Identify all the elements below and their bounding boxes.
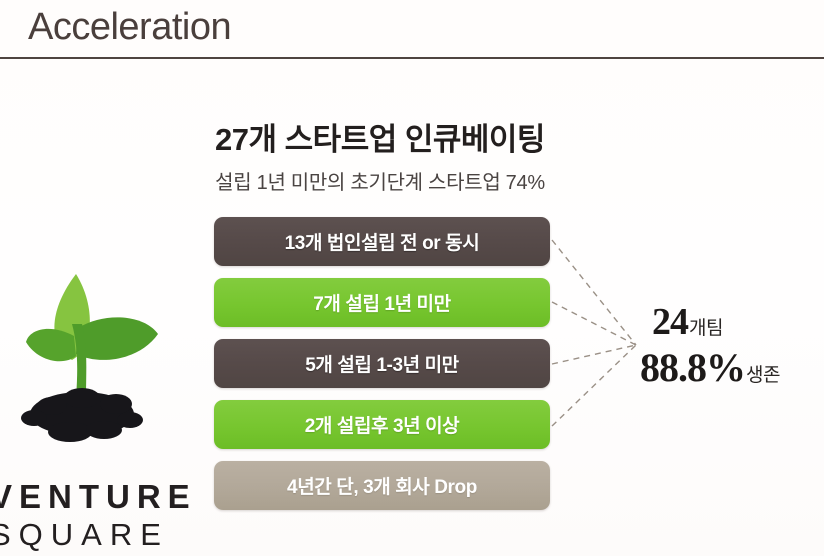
bar-item-4[interactable]: 2개 설립후 3년 이상 [214,400,550,449]
bar-item-2[interactable]: 7개 설립 1년 미만 [214,278,550,327]
callout-rate-line: 88.8% 생존 [640,344,815,391]
bar-item-3[interactable]: 5개 설립 1-3년 미만 [214,339,550,388]
sprout-logo-icon [12,262,182,462]
sub-heading: 설립 1년 미만의 초기단계 스타트업 74% [0,166,760,195]
callout-rate-number: 88.8% [640,344,745,391]
callout-teams-number: 24 [652,300,688,344]
callout-teams-suffix: 개팀 [689,313,723,340]
connector-line-4 [552,345,636,426]
bar-item-1[interactable]: 13개 법인설립 전 or 동시 [214,217,550,266]
venture-square-wordmark: VENTURE SQUARE [0,478,200,554]
slide-header: Acceleration [0,0,824,58]
connector-line-3 [552,345,636,364]
leaf-left-icon [26,329,76,361]
wordmark-line-square: SQUARE [0,516,200,554]
leaf-right-icon [76,317,158,360]
header-divider [0,57,824,59]
callout-rate-suffix: 생존 [746,360,780,387]
main-heading: 27개 스타트업 인큐베이팅 [0,114,760,159]
slide: Acceleration 27개 스타트업 인큐베이팅 설립 1년 미만의 초기… [0,0,824,556]
callout-teams-line: 24 개팀 [652,300,815,344]
soil-icon [21,388,143,442]
connector-line-2 [552,302,636,345]
bar-list: 13개 법인설립 전 or 동시 7개 설립 1년 미만 5개 설립 1-3년 … [214,217,550,522]
wordmark-line-venture: VENTURE [0,478,200,516]
bar-item-5[interactable]: 4년간 단, 3개 회사 Drop [214,461,550,510]
page-title: Acceleration [28,6,231,49]
connector-line-1 [552,240,636,345]
survival-callout: 24 개팀 88.8% 생존 [640,300,815,391]
